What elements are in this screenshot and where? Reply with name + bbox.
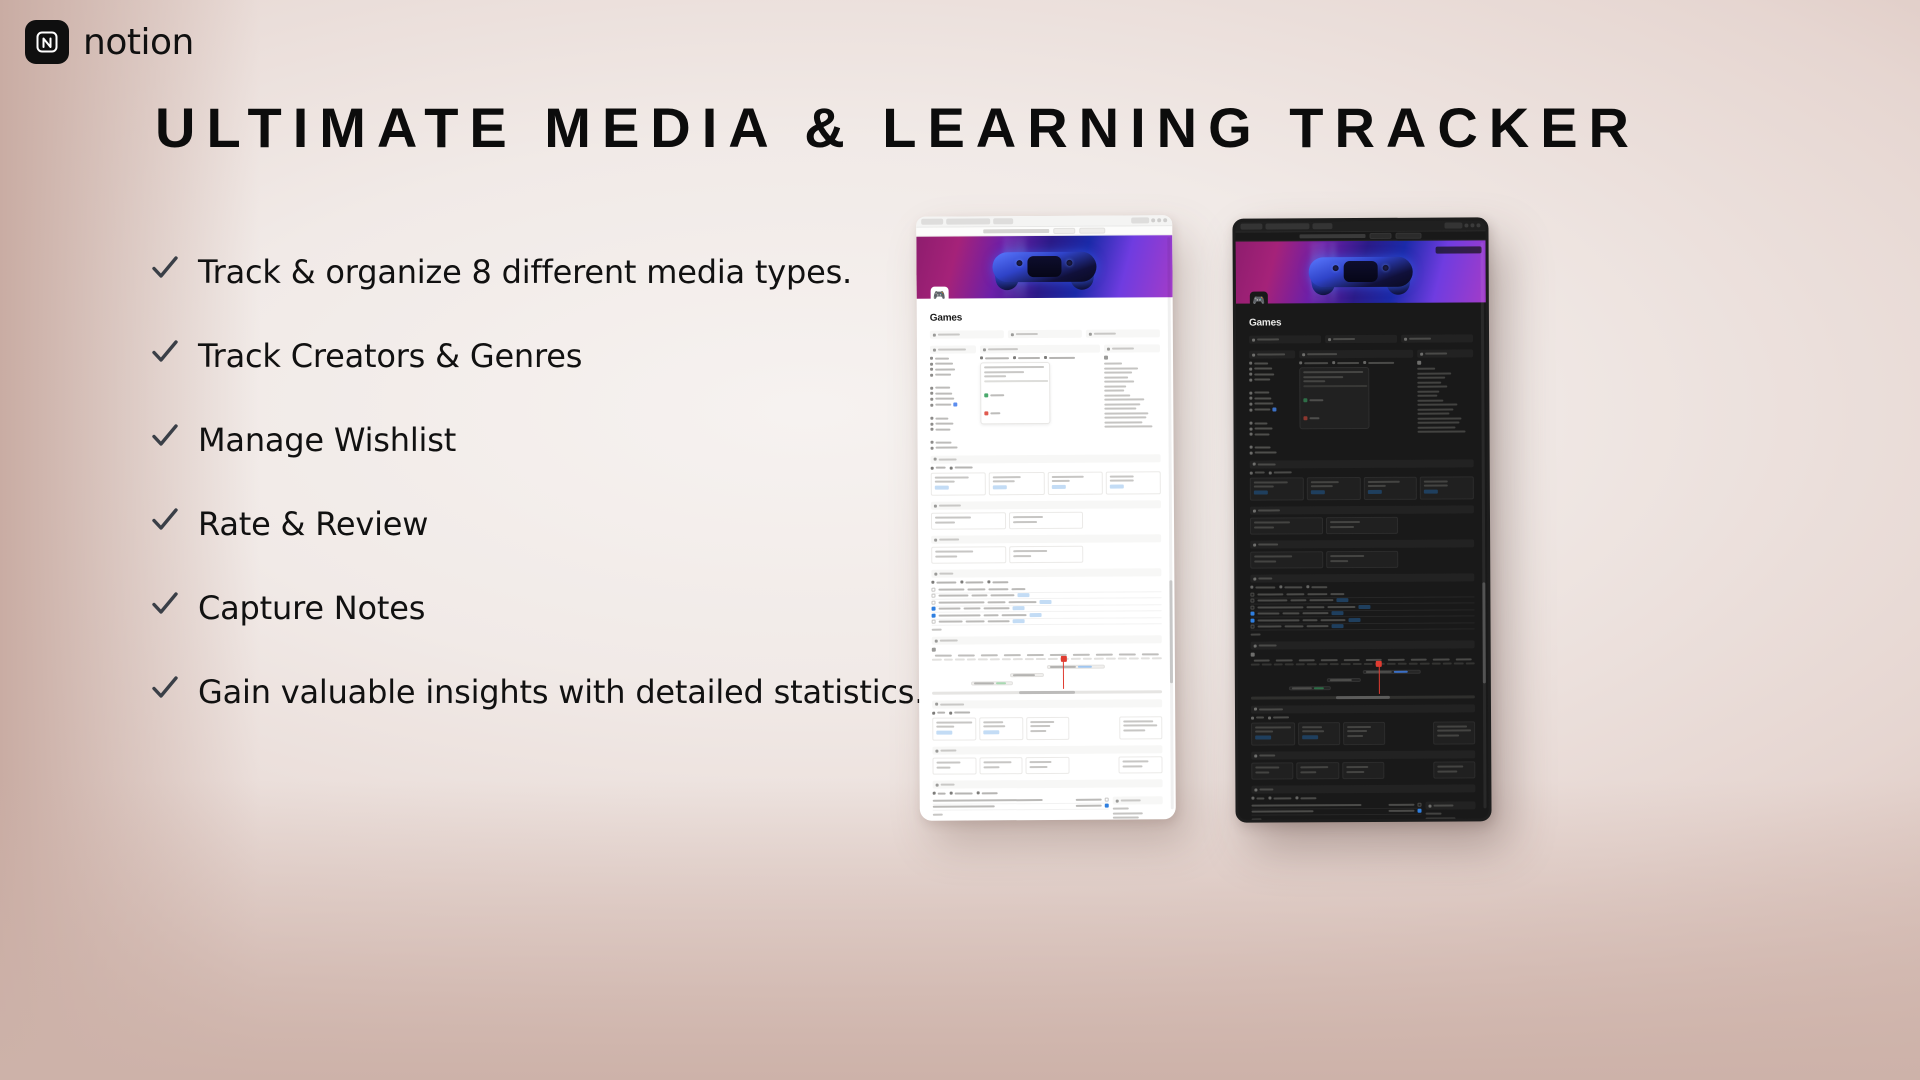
browser-tab[interactable] [1265, 223, 1309, 229]
creator-card[interactable] [989, 472, 1044, 496]
timeline-today-marker [1063, 658, 1064, 688]
creators-view-tabs[interactable] [931, 465, 1161, 469]
timeline-track[interactable] [932, 662, 1162, 689]
view-tab-purchased[interactable] [1279, 585, 1302, 588]
statistics-list [1104, 362, 1160, 427]
ps5-controller-illustration [992, 245, 1096, 292]
list-item: Capture Notes [150, 586, 970, 670]
creator-card[interactable] [1047, 471, 1102, 495]
sidebar-item-creators[interactable] [930, 422, 976, 425]
view-tab-not-started[interactable] [931, 581, 956, 584]
creator-card[interactable] [1105, 471, 1160, 495]
notion-page-mockup-dark[interactable]: 🎮 Games [1232, 217, 1491, 822]
sidebar-item-stats[interactable] [930, 416, 976, 419]
stat-card-empty [1387, 762, 1429, 779]
sidebar-item-creators[interactable] [1250, 427, 1296, 430]
status-badge [1303, 398, 1323, 402]
notes-view-tabs[interactable] [933, 790, 1163, 794]
topic-card-empty [1401, 516, 1474, 533]
section-evaluation [1251, 704, 1475, 746]
section-creators [1250, 459, 1474, 501]
evaluation-card[interactable] [1026, 716, 1070, 740]
topbar-duplicate-button[interactable] [1369, 233, 1391, 239]
browser-share-icon[interactable] [1470, 223, 1474, 227]
topics-card-grid[interactable] [1250, 516, 1474, 534]
sidebar-item-topics[interactable] [1250, 432, 1296, 435]
view-tab-all[interactable] [1251, 716, 1264, 719]
section-header-evaluation [1251, 704, 1475, 713]
page-cover-image [1236, 240, 1486, 303]
view-tab-want-to-play[interactable] [1332, 361, 1359, 364]
view-tab-purchased[interactable] [960, 580, 983, 583]
evaluation-card[interactable] [1251, 722, 1295, 746]
list-item: Gain valuable insights with detailed sta… [150, 670, 970, 754]
sidebar-item-games[interactable] [930, 402, 976, 406]
stat-summary-card[interactable] [1433, 761, 1475, 778]
section-header-timeline [932, 635, 1162, 644]
stat-card[interactable] [1342, 762, 1384, 779]
browser-tab[interactable] [1312, 223, 1332, 229]
creator-card[interactable] [1363, 476, 1417, 500]
notion-page-mockup-light[interactable]: 🎮 Games [916, 215, 1176, 821]
view-tab-completed[interactable] [1363, 361, 1394, 364]
browser-tab[interactable] [946, 218, 990, 224]
note-card[interactable] [931, 546, 1006, 563]
table-row[interactable] [932, 618, 1162, 626]
wishlist-table[interactable] [1250, 590, 1474, 630]
sidebar-item-notes[interactable] [931, 440, 977, 443]
browser-profile-icon[interactable] [1476, 223, 1480, 227]
statistics-panel-header [1417, 349, 1473, 357]
view-tab-rated[interactable] [1268, 716, 1289, 719]
sidebar-item-podcasts[interactable] [930, 367, 976, 370]
timeline-bar[interactable] [971, 681, 1013, 685]
sidebar-nav-list[interactable] [1249, 361, 1295, 454]
browser-share-icon[interactable] [1157, 218, 1161, 222]
section-header-statistics [932, 745, 1162, 754]
list-item: Rate & Review [150, 502, 970, 586]
cover-change-button[interactable] [1436, 246, 1482, 253]
creator-card[interactable] [1307, 477, 1361, 501]
section-topics [1250, 505, 1474, 534]
statistics-card-grid[interactable] [1251, 761, 1475, 779]
section-header-notes [1250, 539, 1474, 548]
view-tab-wishlist[interactable] [987, 580, 1008, 583]
timeline-today-marker [1378, 663, 1379, 693]
stat-summary-card[interactable] [1119, 756, 1163, 773]
game-controller-icon[interactable]: 🎮 [1250, 291, 1268, 309]
section-timeline [932, 635, 1162, 694]
status-badge [984, 393, 1004, 397]
database-card[interactable] [980, 362, 1050, 424]
topic-card-empty [1086, 511, 1161, 528]
section-topics [931, 500, 1161, 529]
topbar-notice-text [1300, 234, 1366, 238]
section-notes-list [933, 779, 1163, 820]
sidebar-item-movies[interactable] [1249, 396, 1295, 399]
checkmark-icon [150, 250, 184, 283]
section-header-evaluation [932, 699, 1162, 708]
creators-view-tabs[interactable] [1250, 470, 1474, 474]
page-nav-buttons[interactable] [930, 329, 1160, 338]
timeline-month-labels [932, 653, 1162, 656]
sidebar-item-stats[interactable] [1249, 421, 1295, 424]
database-view-tabs[interactable] [980, 356, 1100, 360]
page-nav-buttons[interactable] [1249, 334, 1473, 343]
evaluation-summary-card[interactable] [1119, 716, 1163, 740]
nav-button-select-filter[interactable] [1401, 334, 1473, 342]
nav-button-new-media[interactable] [1008, 330, 1082, 338]
notes-view-tabs[interactable] [1251, 795, 1475, 799]
list-item: Track & organize 8 different media types… [150, 250, 970, 334]
creator-card[interactable] [1250, 477, 1304, 501]
browser-window-controls[interactable] [1131, 217, 1167, 223]
browser-tab[interactable] [993, 218, 1013, 224]
topics-card-grid[interactable] [931, 511, 1161, 529]
ps5-controller-illustration [1309, 250, 1413, 297]
stat-card[interactable] [1026, 757, 1070, 774]
timeline-track[interactable] [1251, 667, 1475, 694]
evaluation-card[interactable] [1298, 722, 1340, 746]
checkmark-icon [150, 334, 184, 367]
page-cover-image [916, 235, 1172, 299]
view-tab-reviewed[interactable] [977, 791, 998, 794]
sidebar-item-articles[interactable] [930, 373, 976, 376]
section-timeline [1251, 640, 1475, 699]
timeline-bar[interactable] [1047, 664, 1105, 668]
stat-card[interactable] [1297, 762, 1339, 779]
evaluation-summary-card[interactable] [1433, 721, 1475, 745]
feature-label: Track Creators & Genres [198, 334, 582, 378]
view-tab-rated[interactable] [949, 711, 970, 714]
timeline-month-labels [1251, 658, 1475, 661]
note-row[interactable] [933, 803, 1109, 811]
view-tab-favorites[interactable] [1269, 471, 1292, 474]
stat-card-empty [1072, 757, 1116, 774]
evaluation-card-empty [1388, 721, 1430, 745]
browser-address-chip[interactable] [1131, 217, 1149, 223]
sidebar-item-evaluation[interactable] [1250, 451, 1296, 454]
topbar-duplicate-button[interactable] [1053, 228, 1075, 234]
game-controller-icon[interactable]: 🎮 [931, 287, 949, 305]
creator-card[interactable] [931, 472, 986, 496]
evaluation-card-grid[interactable] [932, 716, 1162, 741]
sidebar-item-courses[interactable] [1249, 367, 1295, 370]
evaluation-card[interactable] [979, 717, 1023, 741]
feature-label: Capture Notes [198, 586, 425, 630]
section-header-creators [931, 454, 1161, 463]
evaluation-card[interactable] [932, 717, 976, 741]
section-notes-list [1251, 784, 1475, 822]
notes-sidebar-header [1113, 796, 1163, 804]
topbar-secondary-button[interactable] [1079, 228, 1105, 234]
database-panel-header [1299, 350, 1413, 359]
background-gradient-bottom [0, 780, 1920, 1080]
sidebar-item-games[interactable] [1249, 407, 1295, 411]
checkmark-icon [150, 502, 184, 535]
view-tab-currently-playing[interactable] [980, 356, 1009, 359]
evaluation-view-tabs[interactable] [932, 710, 1162, 714]
notes-sidebar-header [1425, 801, 1475, 809]
topic-card[interactable] [1250, 517, 1323, 534]
checkmark-icon [150, 586, 184, 619]
browser-window-controls[interactable] [1444, 222, 1480, 228]
sidebar-panel-header [1249, 350, 1295, 358]
topic-card[interactable] [931, 512, 1006, 529]
notion-page-title: Games [1249, 316, 1473, 328]
sidebar-item-books[interactable] [1249, 361, 1295, 364]
timeline-day-ticks [1251, 662, 1475, 665]
page-title: ULTIMATE MEDIA & LEARNING TRACKER [155, 95, 1425, 160]
notes-card-grid[interactable] [931, 545, 1161, 563]
timeline-bar[interactable] [1363, 669, 1421, 673]
feature-label: Gain valuable insights with detailed sta… [198, 670, 924, 714]
feature-label: Track & organize 8 different media types… [198, 250, 852, 294]
statistics-card-grid[interactable] [932, 756, 1162, 774]
notion-logo-icon [25, 20, 69, 64]
checkmark-icon [150, 418, 184, 451]
section-header-timeline [1251, 640, 1475, 649]
list-item: Track Creators & Genres [150, 334, 970, 418]
section-header-creators [1250, 459, 1474, 468]
view-tab-reviewed[interactable] [1295, 796, 1316, 799]
sidebar-item-videos[interactable] [930, 386, 976, 389]
sidebar-item-podcasts[interactable] [1249, 372, 1295, 375]
section-header-statistics [1251, 750, 1475, 759]
section-header-wishlist [931, 568, 1161, 577]
note-card-empty [1402, 550, 1475, 567]
view-tab-not-started[interactable] [1250, 585, 1275, 588]
notion-page-title: Games [930, 311, 1160, 323]
timeline-scrollbar[interactable] [1251, 695, 1475, 699]
database-card[interactable] [1299, 367, 1369, 429]
section-header-notes [931, 534, 1161, 543]
browser-tab[interactable] [921, 219, 943, 225]
view-tab-all[interactable] [1251, 797, 1264, 800]
sidebar-item-tv-shows[interactable] [930, 397, 976, 400]
section-wishlist [1250, 573, 1474, 635]
section-statistics [932, 745, 1162, 774]
statistics-list [1417, 367, 1473, 432]
timeline-bar[interactable] [1289, 686, 1331, 690]
section-creators [931, 454, 1161, 496]
nav-button-new-media[interactable] [1325, 335, 1397, 343]
timeline-day-ticks [932, 657, 1162, 660]
sidebar-nav-list[interactable] [930, 356, 977, 449]
list-item: Manage Wishlist [150, 418, 970, 502]
sidebar-item-courses[interactable] [930, 362, 976, 365]
sidebar-item-notes[interactable] [1250, 445, 1296, 448]
sidebar-panel-header [930, 345, 976, 353]
view-tab-completed[interactable] [1044, 356, 1075, 359]
statistics-panel-header [1104, 344, 1160, 352]
view-tab-wishlist[interactable] [1306, 585, 1327, 588]
evaluation-card-grid[interactable] [1251, 721, 1475, 746]
stat-card[interactable] [1251, 762, 1293, 779]
sidebar-item-topics[interactable] [930, 427, 976, 430]
browser-menu-icon[interactable] [1151, 218, 1155, 222]
view-tab-all[interactable] [932, 711, 945, 714]
nav-button-select-filter[interactable] [1086, 329, 1160, 337]
section-header-topics [931, 500, 1161, 509]
timeline-bar[interactable] [1010, 673, 1044, 677]
topbar-notice-text [983, 229, 1049, 233]
database-panel-header [980, 345, 1100, 354]
timeline-bar[interactable] [1327, 678, 1361, 682]
sidebar-item-books[interactable] [930, 356, 976, 359]
note-card[interactable] [1009, 546, 1084, 563]
view-tab-in-progress[interactable] [950, 791, 973, 794]
notes-card-grid[interactable] [1250, 550, 1474, 568]
note-card[interactable] [1250, 551, 1323, 568]
section-notes [931, 534, 1161, 563]
timeline-scrollbar[interactable] [932, 690, 1162, 694]
wishlist-view-tabs[interactable] [1250, 584, 1474, 588]
view-tab-all[interactable] [933, 792, 946, 795]
view-tab-favorites[interactable] [950, 466, 973, 469]
section-header-notes-list [1251, 784, 1475, 793]
feature-list: Track & organize 8 different media types… [150, 250, 970, 754]
view-tab-all[interactable] [1250, 471, 1265, 474]
section-header-notes-list [933, 779, 1163, 788]
view-tab-currently-playing[interactable] [1299, 361, 1328, 364]
sidebar-item-movies[interactable] [930, 391, 976, 394]
creator-card[interactable] [1420, 476, 1474, 500]
database-view-tabs[interactable] [1299, 361, 1413, 365]
section-header-topics [1250, 505, 1474, 514]
evaluation-view-tabs[interactable] [1251, 715, 1475, 719]
status-badge [1303, 416, 1319, 420]
status-badge [984, 411, 1000, 415]
nav-button-home[interactable] [1249, 335, 1321, 343]
nav-button-home[interactable] [930, 330, 1004, 338]
note-row[interactable] [1252, 808, 1422, 815]
browser-address-chip[interactable] [1444, 222, 1462, 228]
browser-tab[interactable] [1240, 224, 1262, 230]
stat-card[interactable] [979, 757, 1023, 774]
view-tab-want-to-play[interactable] [1013, 356, 1040, 359]
creators-card-grid[interactable] [1250, 476, 1474, 501]
sidebar-item-tv-shows[interactable] [1249, 402, 1295, 405]
notion-brand-lockup: notion [25, 20, 194, 64]
section-header-wishlist [1250, 573, 1474, 582]
section-notes [1250, 539, 1474, 568]
notion-wordmark: notion [83, 22, 194, 63]
browser-profile-icon[interactable] [1163, 218, 1167, 222]
browser-menu-icon[interactable] [1464, 223, 1468, 227]
sidebar-item-evaluation[interactable] [931, 446, 977, 449]
checkmark-icon [150, 670, 184, 703]
table-row[interactable] [1251, 623, 1475, 631]
wishlist-table[interactable] [931, 585, 1161, 625]
topic-card[interactable] [1326, 517, 1399, 534]
wishlist-view-tabs[interactable] [931, 579, 1161, 583]
feature-label: Manage Wishlist [198, 418, 456, 462]
section-evaluation [932, 699, 1162, 741]
evaluation-card[interactable] [1343, 721, 1385, 745]
section-wishlist [931, 568, 1161, 630]
creators-card-grid[interactable] [931, 471, 1161, 496]
stat-card[interactable] [932, 757, 976, 774]
section-statistics [1251, 750, 1475, 779]
sidebar-item-videos[interactable] [1249, 391, 1295, 394]
topbar-secondary-button[interactable] [1395, 233, 1421, 239]
topic-card[interactable] [1009, 512, 1084, 529]
feature-label: Rate & Review [198, 502, 428, 546]
sidebar-item-articles[interactable] [1249, 378, 1295, 381]
view-tab-all[interactable] [931, 466, 946, 469]
note-card[interactable] [1326, 551, 1399, 568]
evaluation-card-empty [1072, 716, 1116, 740]
note-card-empty [1087, 545, 1162, 562]
view-tab-in-progress[interactable] [1268, 796, 1291, 799]
